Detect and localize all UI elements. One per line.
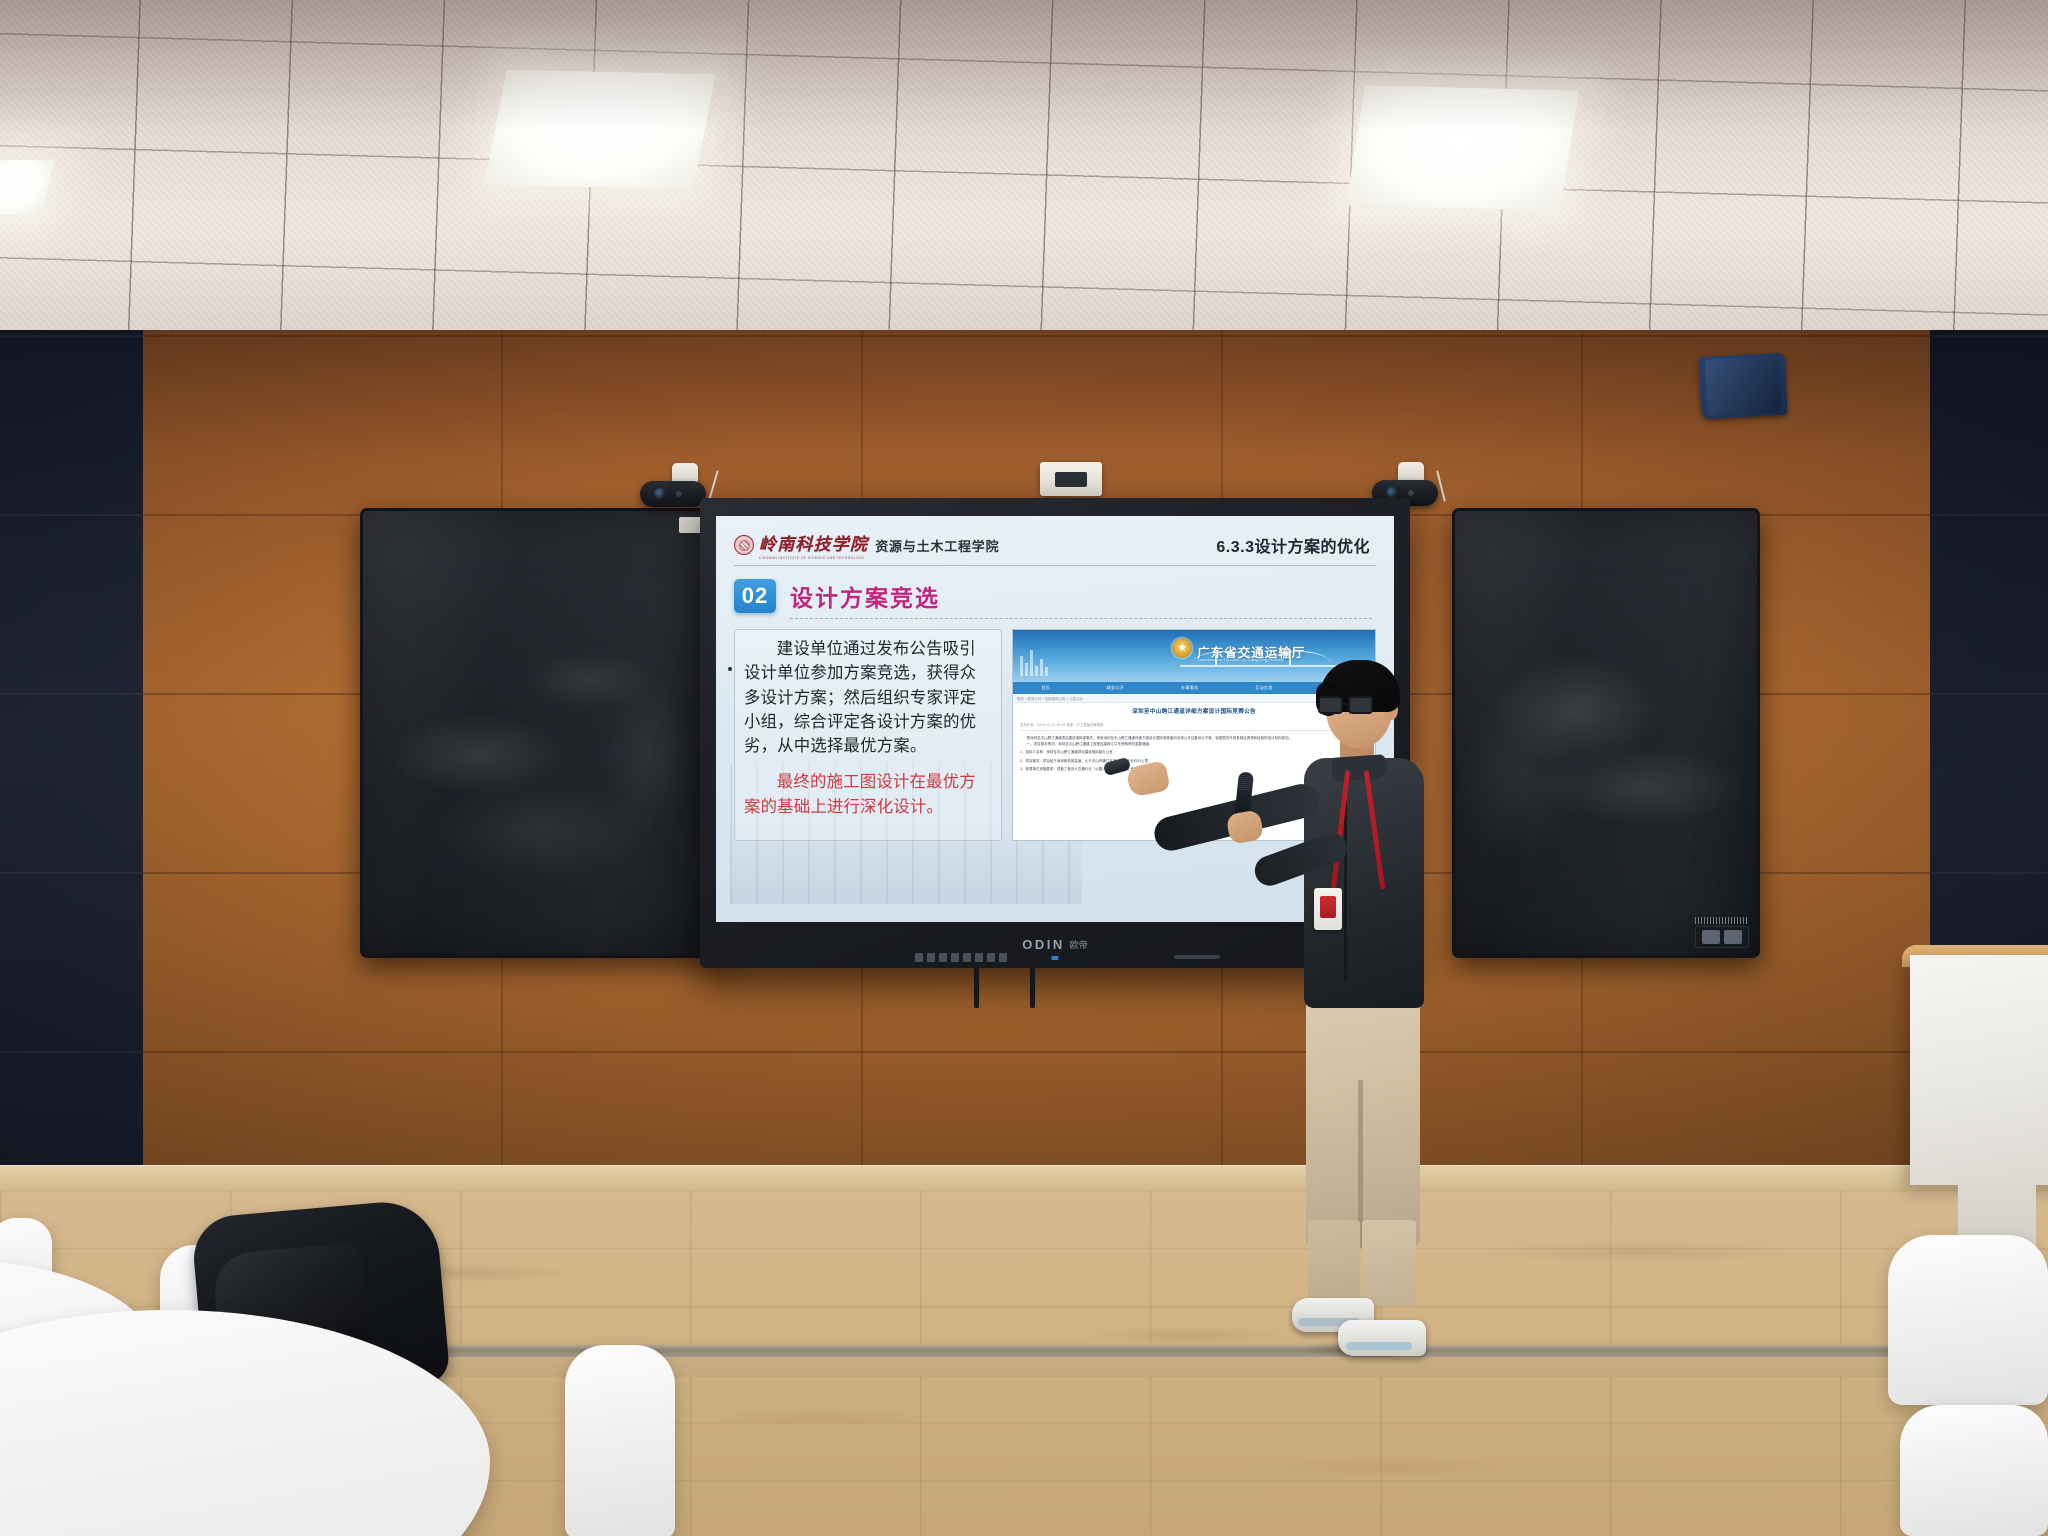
display-brand-logo: ODIN 欧帝 xyxy=(1022,937,1088,952)
hero-skyline xyxy=(1020,650,1048,676)
section-divider xyxy=(790,618,1372,619)
display-button-row[interactable] xyxy=(915,953,1007,962)
institution-branding: 岭南科技学院 LINGNAN INSTITUTE OF SCIENCE AND … xyxy=(734,530,999,560)
department-name: 资源与土木工程学院 xyxy=(875,536,999,555)
slide-header: 岭南科技学院 LINGNAN INSTITUTE OF SCIENCE AND … xyxy=(734,530,1376,566)
slide-text-column: 建设单位通过发布公告吸引设计单位参加方案竞选，获得众多设计方案；然后组织专家评定… xyxy=(734,629,1002,841)
nav-item[interactable]: 办事服务 xyxy=(1181,685,1199,691)
presenter-trousers xyxy=(1306,998,1420,1246)
national-emblem-icon xyxy=(1172,638,1192,658)
slide-paragraph-1: 建设单位通过发布公告吸引设计单位参加方案竞选，获得众多设计方案；然后组织专家评定… xyxy=(744,637,992,758)
university-name: 岭南科技学院 xyxy=(759,530,868,555)
university-seal-icon xyxy=(734,535,754,555)
ceiling xyxy=(0,0,2048,345)
bullet-dot-icon xyxy=(728,667,732,671)
slide-section-header: 02 设计方案竞选 xyxy=(734,579,1376,613)
camera-stand xyxy=(1398,462,1424,482)
slide-title: 6.3.3设计方案的优化 xyxy=(1216,533,1376,557)
sensor-window xyxy=(1055,472,1087,487)
presenter-sneaker xyxy=(1338,1320,1426,1356)
display-ir-receiver xyxy=(1174,955,1220,959)
board-barcode xyxy=(1695,917,1749,924)
wall-sensor-box[interactable] xyxy=(1040,462,1102,496)
brand-name: ODIN xyxy=(1022,937,1065,952)
camera-stand xyxy=(672,463,698,483)
display-wall-mount xyxy=(960,966,1200,1008)
presenter-shin xyxy=(1362,1220,1416,1306)
blackboard-left-panel xyxy=(360,508,732,958)
presenter-id-badge xyxy=(1314,888,1342,930)
presenter-shin xyxy=(1308,1220,1360,1306)
classroom-scene: 岭南科技学院 LINGNAN INSTITUTE OF SCIENCE AND … xyxy=(0,0,2048,1536)
section-number-badge: 02 xyxy=(734,579,776,613)
blue-cloth xyxy=(1698,353,1787,419)
university-name-en: LINGNAN INSTITUTE OF SCIENCE AND TECHNOL… xyxy=(759,556,868,560)
breadcrumb-text: 首页 > 政务公开 > 招标投标公告 > 公告公示 xyxy=(1017,696,1083,701)
slide-paragraph-2: 最终的施工图设计在最优方案的基础上进行深化设计。 xyxy=(744,770,992,819)
board-sheen xyxy=(363,511,729,955)
brand-name-cn: 欧帝 xyxy=(1070,938,1088,951)
wall-panel-navy-left xyxy=(0,330,143,1230)
nav-item[interactable]: 政务公开 xyxy=(1107,685,1125,691)
presenter xyxy=(1270,660,1450,1380)
blackboard-right-panel xyxy=(1452,508,1760,958)
ceiling-shading xyxy=(0,0,2048,345)
chair[interactable] xyxy=(565,1345,675,1536)
presenter-lanyard xyxy=(1336,770,1382,890)
chair[interactable] xyxy=(1888,1235,2048,1405)
chair[interactable] xyxy=(1900,1405,2048,1536)
board-control-plate[interactable] xyxy=(1695,926,1749,948)
display-power-led xyxy=(1052,956,1059,960)
conference-camera-left xyxy=(640,481,706,507)
section-title: 设计方案竞选 xyxy=(790,579,940,613)
board-sheen xyxy=(1455,511,1757,955)
slide-text-box: 建设单位通过发布公告吸引设计单位参加方案竞选，获得众多设计方案；然后组织专家评定… xyxy=(734,629,1002,841)
lectern[interactable] xyxy=(1910,955,2048,1185)
nav-item[interactable]: 首页 xyxy=(1041,685,1050,691)
presenter-glasses xyxy=(1318,696,1374,714)
